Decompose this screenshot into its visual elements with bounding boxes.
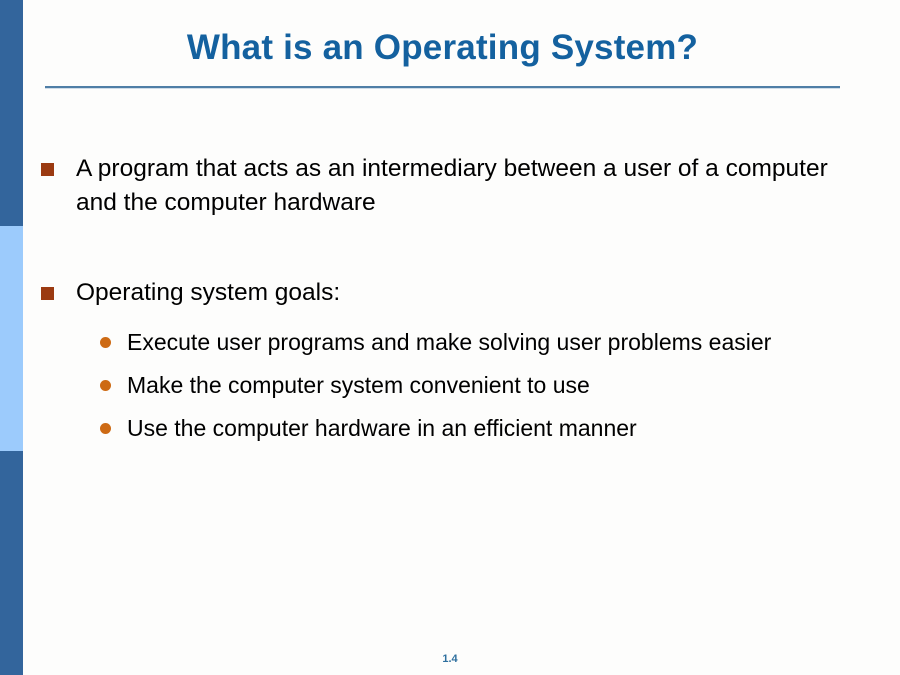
spacer-sub-2 [90,403,870,410]
slide-title: What is an Operating System? [45,26,840,70]
bullet-item-2-text: Operating system goals: [76,279,340,306]
bullet-item-1-text: A program that acts as an intermediary b… [76,155,828,216]
page-number: 1.4 [0,653,900,665]
left-decorative-sidebar [0,0,23,675]
sub-bullet-item: Use the computer hardware in an efficien… [90,410,870,446]
dot-bullet-icon [100,380,111,391]
sidebar-band-top-dark [0,0,23,226]
slide-canvas: What is an Operating System? A program t… [0,0,900,675]
slide-body: A program that acts as an intermediary b… [40,152,870,446]
sub-bullet-item: Make the computer system convenient to u… [90,367,870,403]
sidebar-band-middle-light [0,226,23,451]
bullet-item-1: A program that acts as an intermediary b… [40,152,870,220]
sub-bullet-list: Execute user programs and make solving u… [90,324,870,446]
square-bullet-icon [41,163,54,176]
title-underline-rule-shadow [45,88,840,89]
dot-bullet-icon [100,423,111,434]
sub-bullet-item-text: Make the computer system convenient to u… [127,372,590,398]
sub-bullet-item-text: Use the computer hardware in an efficien… [127,415,637,441]
spacer-between-bullets [40,220,870,276]
dot-bullet-icon [100,337,111,348]
sub-bullet-item: Execute user programs and make solving u… [90,324,870,360]
spacer-before-sublist [40,310,870,324]
sidebar-band-bottom-dark [0,451,23,675]
sub-bullet-item-text: Execute user programs and make solving u… [127,329,771,355]
bullet-item-2: Operating system goals: [40,276,870,310]
spacer-sub-1 [90,360,870,367]
square-bullet-icon [41,287,54,300]
